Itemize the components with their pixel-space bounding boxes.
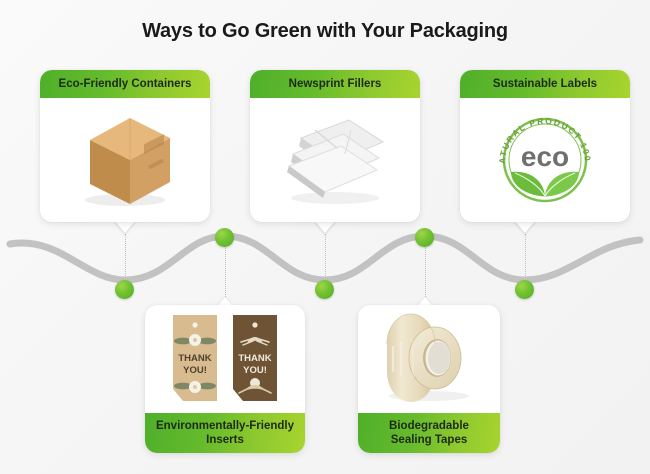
connector-3 (325, 234, 327, 280)
card-eco-friendly-containers[interactable]: Eco-Friendly Containers (40, 70, 210, 222)
card-label-sustainable-labels: Sustainable Labels (460, 70, 630, 98)
timeline-node-5 (515, 280, 534, 299)
timeline-node-2 (215, 228, 234, 247)
tag-dark-line-1: THANK (238, 353, 271, 364)
card-art-tape-roll (358, 305, 500, 413)
connector-1 (125, 234, 127, 280)
card-label-newsprint-fillers: Newsprint Fillers (250, 70, 420, 98)
card-label-eco-friendly-containers: Eco-Friendly Containers (40, 70, 210, 98)
label-line-2: Inserts (206, 434, 244, 446)
label-line-1: Environmentally-Friendly (156, 420, 294, 432)
infographic-canvas: Ways to Go Green with Your Packaging Eco… (0, 0, 650, 474)
tag-light-line-1: THANK (178, 353, 211, 364)
timeline-node-4 (415, 228, 434, 247)
tag-dark-line-2: YOU! (243, 365, 267, 376)
card-art-cardboard-box (40, 98, 210, 222)
thank-you-tag-light: THANK YOU! (173, 315, 217, 401)
thank-you-tag-dark: THANK YOU! (233, 315, 277, 401)
label-line-1: Biodegradable (389, 420, 469, 432)
card-art-thank-you-tags: THANK YOU! THANK (145, 305, 305, 413)
page-title: Ways to Go Green with Your Packaging (0, 20, 650, 43)
timeline-node-1 (115, 280, 134, 299)
connector-5 (525, 234, 527, 280)
tag-light-line-2: YOU! (183, 365, 207, 376)
card-environmentally-friendly-inserts[interactable]: THANK YOU! THANK (145, 305, 305, 453)
timeline-node-3 (315, 280, 334, 299)
card-label-environmentally-friendly-inserts: Environmentally-Friendly Inserts (145, 413, 305, 453)
card-sustainable-labels[interactable]: Sustainable Labels NATURAL PRODUCT 100% … (460, 70, 630, 222)
card-art-newsprint-sheets (250, 98, 420, 222)
card-label-biodegradable-sealing-tapes: Biodegradable Sealing Tapes (358, 413, 500, 453)
label-line-2: Sealing Tapes (391, 434, 467, 446)
connector-2 (225, 247, 227, 297)
card-biodegradable-sealing-tapes[interactable]: Biodegradable Sealing Tapes (358, 305, 500, 453)
eco-badge-center-text: eco (521, 141, 569, 172)
card-art-eco-badge: NATURAL PRODUCT 100% eco (460, 98, 630, 222)
connector-4 (425, 247, 427, 297)
card-newsprint-fillers[interactable]: Newsprint Fillers (250, 70, 420, 222)
